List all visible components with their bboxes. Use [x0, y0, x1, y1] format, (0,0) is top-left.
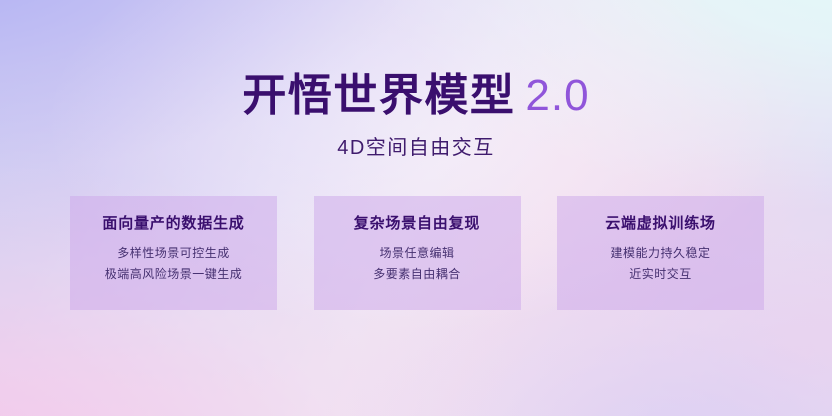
feature-card-body: 多样性场景可控生成 极端高风险场景一键生成 — [105, 247, 243, 280]
feature-card-title: 面向量产的数据生成 — [102, 216, 244, 231]
headline: 开悟世界模型2.0 — [0, 74, 832, 118]
feature-card-line: 多样性场景可控生成 — [117, 247, 230, 259]
feature-card-list: 面向量产的数据生成 多样性场景可控生成 极端高风险场景一键生成 复杂场景自由复现… — [70, 196, 764, 310]
feature-card-line: 极端高风险场景一键生成 — [105, 268, 243, 280]
feature-card: 面向量产的数据生成 多样性场景可控生成 极端高风险场景一键生成 — [70, 196, 277, 310]
headline-version-number: 2.0 — [525, 71, 589, 120]
headline-title: 开悟世界模型 — [242, 71, 515, 120]
feature-card-line: 近实时交互 — [629, 268, 692, 280]
feature-card-line: 场景任意编辑 — [379, 247, 454, 259]
feature-card-line: 多要素自由耦合 — [373, 268, 461, 280]
feature-card-line: 建模能力持久稳定 — [610, 247, 710, 259]
feature-card-body: 建模能力持久稳定 近实时交互 — [610, 247, 710, 280]
feature-card: 复杂场景自由复现 场景任意编辑 多要素自由耦合 — [314, 196, 521, 310]
feature-card-title: 复杂场景自由复现 — [354, 216, 480, 231]
presentation-slide: 开悟世界模型2.0 4D空间自由交互 面向量产的数据生成 多样性场景可控生成 极… — [0, 0, 832, 416]
feature-card-body: 场景任意编辑 多要素自由耦合 — [373, 247, 461, 280]
feature-card-title: 云端虚拟训练场 — [605, 216, 716, 231]
slide-content: 开悟世界模型2.0 4D空间自由交互 面向量产的数据生成 多样性场景可控生成 极… — [0, 0, 832, 416]
feature-card: 云端虚拟训练场 建模能力持久稳定 近实时交互 — [557, 196, 764, 310]
subheadline: 4D空间自由交互 — [0, 138, 832, 158]
